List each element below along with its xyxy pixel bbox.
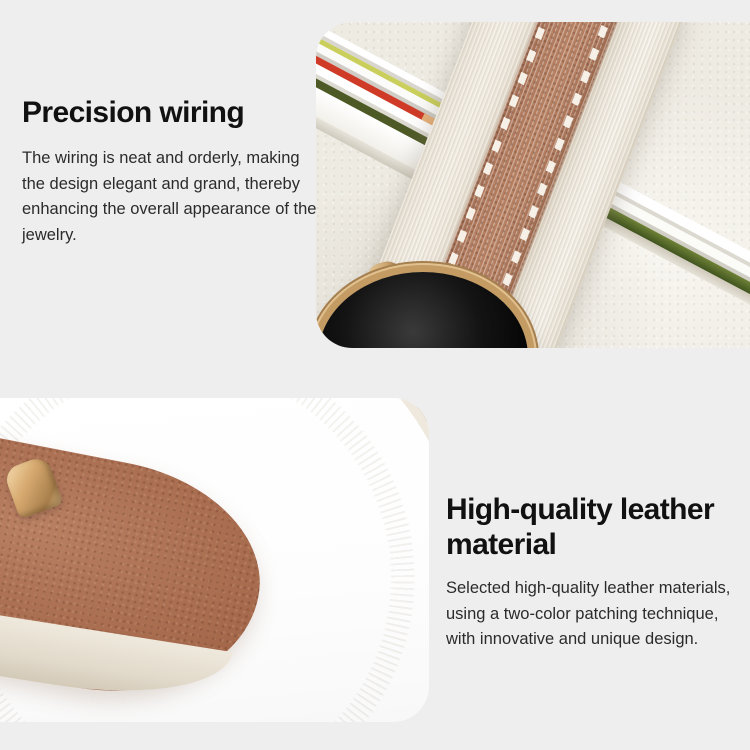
feature-body-precision-wiring: The wiring is neat and orderly, making t… [22, 146, 322, 248]
feature-heading-high-quality-leather: High-quality leather material [446, 492, 738, 562]
watch-strap-closeup-photo [316, 22, 750, 348]
curved-leather-strap-photo [0, 398, 429, 722]
feature-body-high-quality-leather: Selected high-quality leather materials,… [446, 576, 738, 653]
feature-block-high-quality-leather: High-quality leather material Selected h… [446, 492, 738, 653]
product-feature-page: Precision wiring The wiring is neat and … [0, 0, 750, 750]
feature-heading-precision-wiring: Precision wiring [22, 96, 322, 130]
feature-block-precision-wiring: Precision wiring The wiring is neat and … [22, 96, 322, 248]
